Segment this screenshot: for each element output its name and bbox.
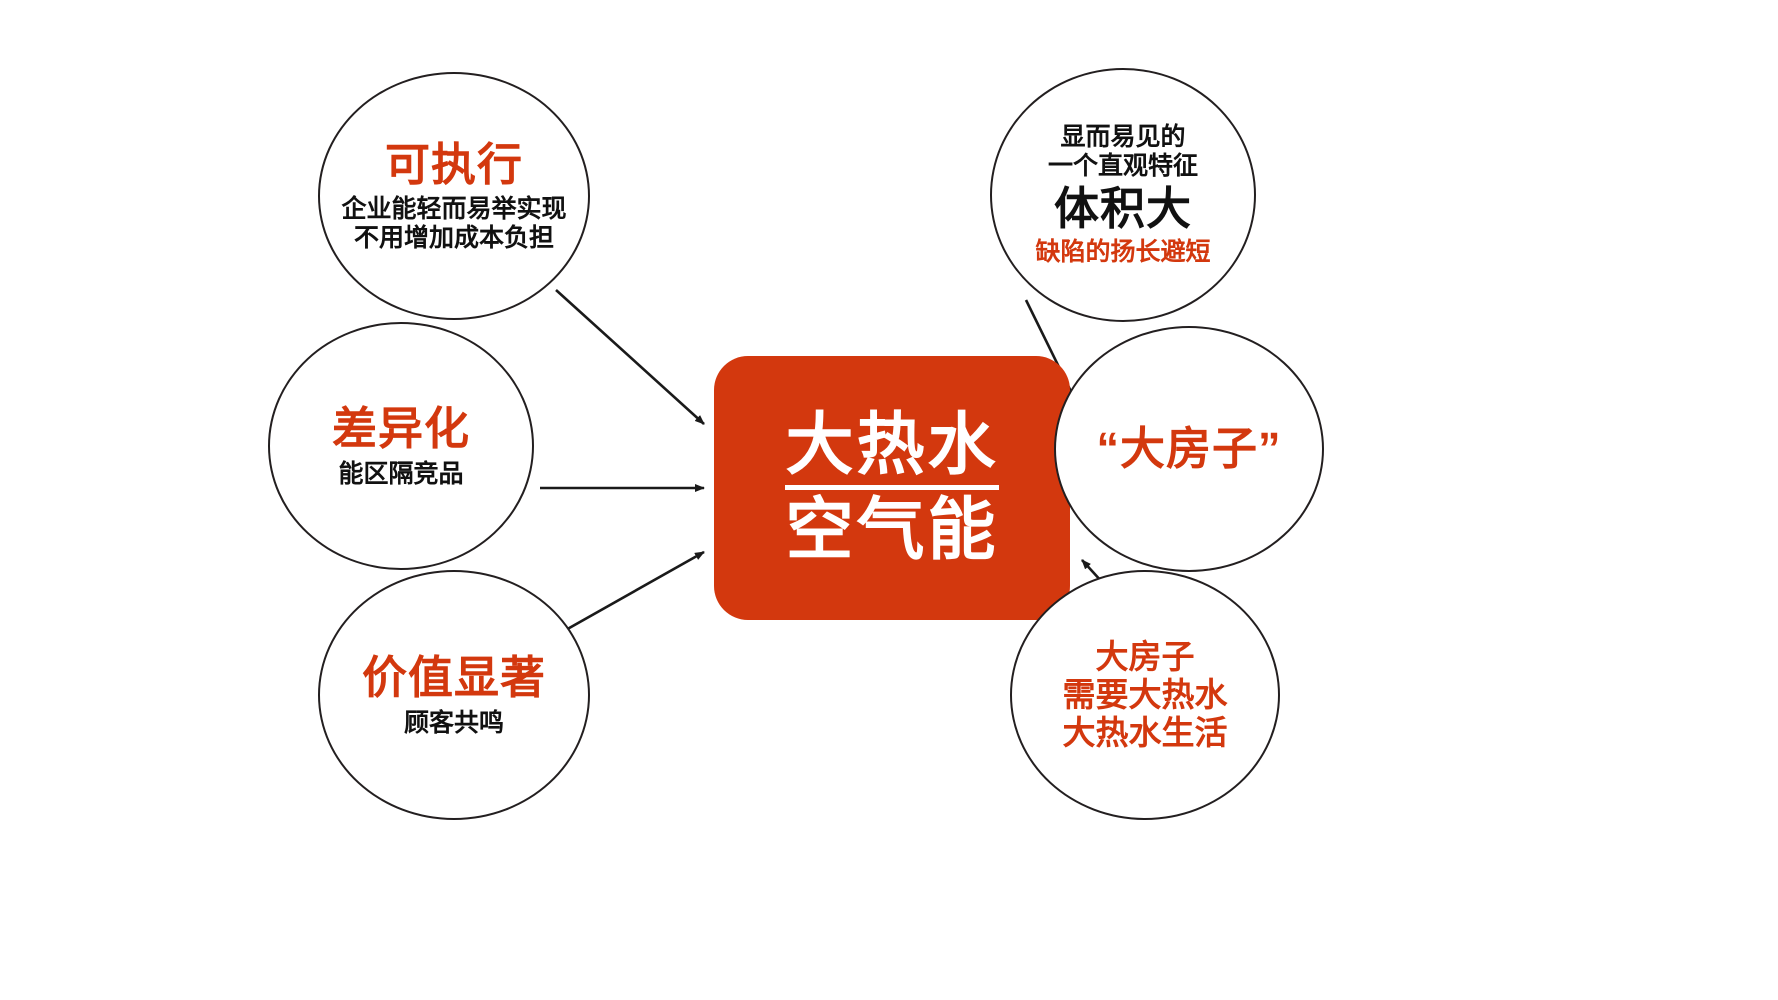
node-executable-heading: 可执行 (385, 139, 523, 191)
node-value-heading: 价值显著 (362, 652, 546, 704)
node-differentiation-subline-1: 能区隔竞品 (338, 460, 463, 489)
node-bighouse-need-line-1: 大房子 (1096, 638, 1195, 676)
node-volume-accent-line: 缺陷的扬长避短 (1035, 238, 1210, 267)
node-volume[interactable]: 显而易见的 一个直观特征 体积大 缺陷的扬长避短 (990, 68, 1256, 322)
node-bighouse-heading: “大房子” (1096, 423, 1281, 475)
center-node[interactable]: 大热水 空气能 (714, 356, 1070, 620)
node-value[interactable]: 价值显著 顾客共鸣 (318, 570, 590, 820)
arrow-value-to-center (548, 552, 704, 640)
node-differentiation-heading: 差异化 (332, 403, 470, 455)
node-volume-topline-2: 一个直观特征 (1048, 152, 1198, 181)
node-bighouse-need[interactable]: 大房子 需要大热水 大热水生活 (1010, 570, 1280, 820)
node-executable-subline-2: 不用增加成本负担 (354, 224, 554, 253)
node-executable[interactable]: 可执行 企业能轻而易举实现 不用增加成本负担 (318, 72, 590, 320)
diagram-canvas: 大热水 空气能 可执行 企业能轻而易举实现 不用增加成本负担 差异化 能区隔竞品… (0, 0, 1778, 1000)
node-differentiation[interactable]: 差异化 能区隔竞品 (268, 322, 534, 570)
node-bighouse-need-line-2: 需要大热水 (1063, 676, 1228, 714)
node-volume-topline-1: 显而易见的 (1060, 123, 1185, 152)
node-value-subline-1: 顾客共鸣 (404, 709, 504, 738)
center-node-line-bottom: 空气能 (785, 490, 998, 567)
node-bighouse[interactable]: “大房子” (1054, 326, 1324, 572)
node-executable-subline-1: 企业能轻而易举实现 (341, 195, 566, 224)
node-bighouse-need-line-3: 大热水生活 (1063, 714, 1228, 752)
node-volume-big-line: 体积大 (1054, 183, 1192, 235)
arrow-executable-to-center (556, 290, 704, 424)
center-node-line-top: 大热水 (785, 409, 998, 489)
